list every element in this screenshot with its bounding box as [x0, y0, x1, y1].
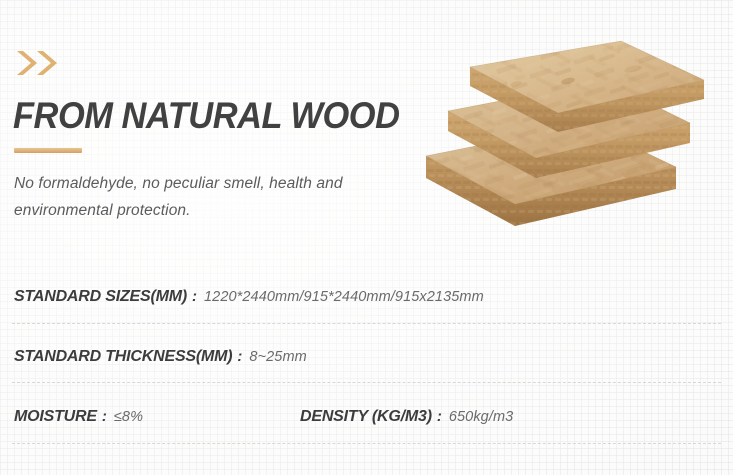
- product-feature-banner: FROM NATURAL WOOD No formaldehyde, no pe…: [0, 0, 733, 475]
- spec-value: 650kg/m3: [449, 409, 513, 425]
- title-accent-underline: [14, 148, 82, 153]
- spec-separator: :: [232, 348, 249, 365]
- subtitle-text: No formaldehyde, no peculiar smell, heal…: [14, 170, 414, 224]
- spec-separator: :: [187, 288, 204, 305]
- page-title: FROM NATURAL WOOD: [13, 96, 399, 136]
- spec-row: STANDARD THICKNESS(MM) : 8~25mm: [0, 335, 733, 379]
- spec-separator: :: [97, 408, 114, 425]
- row-divider: [12, 382, 721, 383]
- double-chevron-right-icon: [14, 48, 74, 78]
- spec-value: 8~25mm: [249, 349, 306, 365]
- spec-row: MOISTURE : ≤8% DENSITY (KG/M3) : 650kg/m…: [0, 395, 733, 439]
- spec-label: MOISTURE: [14, 408, 97, 426]
- spec-standard-sizes: STANDARD SIZES(MM) : 1220*2440mm/915*244…: [0, 288, 484, 306]
- spec-standard-thickness: STANDARD THICKNESS(MM) : 8~25mm: [0, 348, 307, 366]
- spec-separator: :: [432, 408, 449, 425]
- spec-row: STANDARD SIZES(MM) : 1220*2440mm/915*244…: [0, 275, 733, 319]
- row-divider: [12, 443, 721, 444]
- product-image-osb-boards: [418, 36, 708, 246]
- spec-moisture: MOISTURE : ≤8%: [14, 408, 143, 426]
- spec-value: ≤8%: [114, 409, 143, 425]
- spec-label: STANDARD SIZES(MM): [14, 288, 187, 306]
- spec-density: DENSITY (KG/M3) : 650kg/m3: [300, 408, 513, 426]
- chevron-right-icon: [34, 48, 62, 78]
- spec-value: 1220*2440mm/915*2440mm/915x2135mm: [204, 289, 484, 305]
- spec-label: DENSITY (KG/M3): [300, 408, 432, 426]
- row-divider: [12, 323, 721, 324]
- spec-label: STANDARD THICKNESS(MM): [14, 348, 232, 366]
